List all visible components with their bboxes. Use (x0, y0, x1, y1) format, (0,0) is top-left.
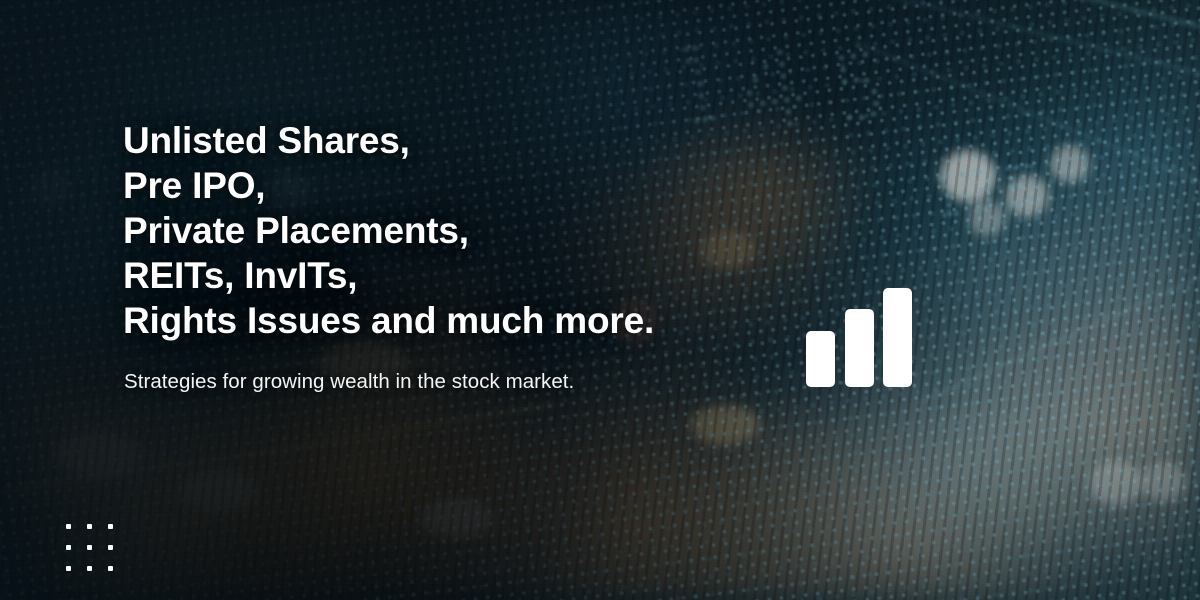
bar-chart-icon (805, 286, 915, 387)
dot-grid-dot (66, 566, 71, 571)
bar-chart-bar-1 (806, 331, 835, 387)
subtitle: Strategies for growing wealth in the sto… (124, 369, 574, 395)
dot-grid-dot (108, 545, 113, 550)
dot-grid-dot (66, 545, 71, 550)
dot-grid-dot (87, 524, 92, 529)
dot-grid-dot (66, 524, 71, 529)
dot-grid-dot (108, 566, 113, 571)
dot-grid-logo (66, 524, 113, 571)
bar-chart-bar-3 (883, 288, 912, 387)
dot-grid-dot (87, 566, 92, 571)
headline: Unlisted Shares, Pre IPO, Private Placem… (123, 118, 654, 343)
dot-grid-dot (108, 524, 113, 529)
bar-chart-bar-2 (845, 309, 874, 387)
promo-banner: Unlisted Shares, Pre IPO, Private Placem… (0, 0, 1200, 600)
dot-grid-dot (87, 545, 92, 550)
